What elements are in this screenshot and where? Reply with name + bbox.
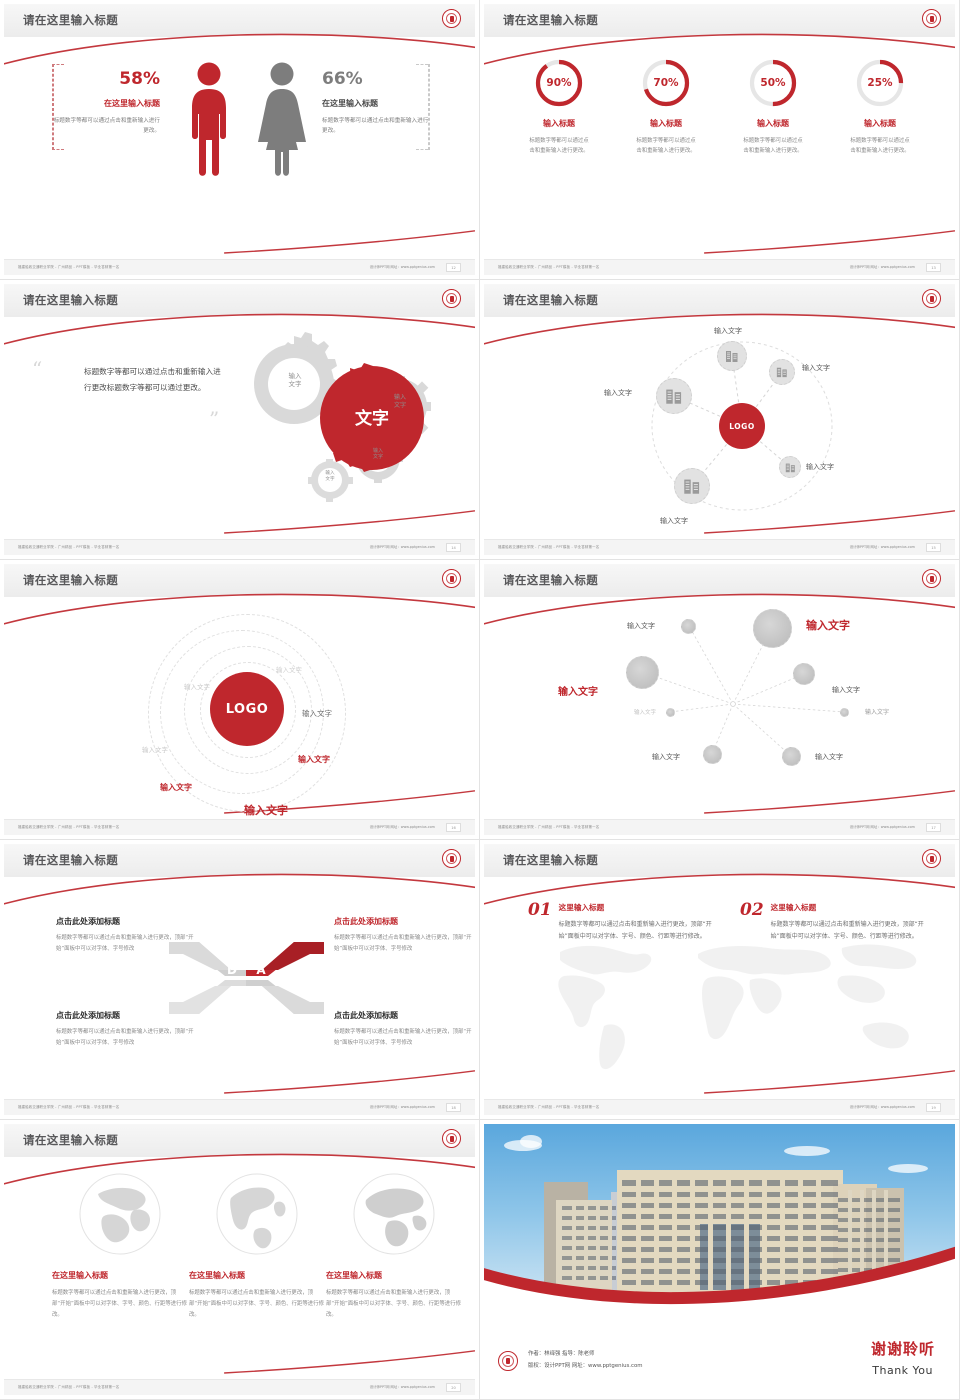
hub-label-1: 输入文字 — [714, 326, 742, 336]
thanks-english: Thank You — [872, 1364, 933, 1377]
page-number: 18 — [446, 1103, 461, 1112]
block-heading: 这里输入标题 — [771, 902, 930, 913]
network-node-1[interactable] — [681, 619, 696, 634]
slide-6[interactable]: 请在这里输入标题 输入文字 — [480, 560, 960, 840]
svg-text:B: B — [256, 987, 265, 1001]
page-title: 请在这里输入标题 — [23, 12, 118, 28]
footer-left-text: 福建船政交通职业学院 - 广州精品 - PPT模板 - 毕业答辩第一名 — [498, 264, 599, 269]
ring-center-logo: LOGO — [210, 672, 284, 746]
red-wave-decoration — [484, 1242, 955, 1312]
hub-center-logo: LOGO — [719, 403, 765, 449]
hub-label-5: 输入文字 — [604, 388, 632, 398]
slide-10-thank-you[interactable]: 作者：林绎强 指导：陈老师 版权：设计PPT网 网址：www.pptgenius… — [480, 1120, 960, 1400]
slide-1[interactable]: 请在这里输入标题 58% 在这里输入标题 标题数字等都可以通过点击和重新输入进行… — [0, 0, 480, 280]
donut-chart: 25% — [854, 57, 906, 109]
university-seal-icon — [922, 9, 941, 28]
network-label-6: 输入文字 — [815, 752, 843, 762]
block-number: 02 — [740, 902, 764, 943]
donut-value: 70% — [640, 57, 692, 109]
donut-stat-4[interactable]: 25% 输入标题 标题数字等都可以通过点击和重新输入进行更改。 — [838, 57, 922, 157]
footer-right-text: 设计师PPT网 网址：www.pptgenius.com — [370, 1384, 435, 1389]
globe-body: 标题数字等都可以通过点击和重新输入进行更改，顶部“开始”面板中可以对字体、字号、… — [52, 1288, 187, 1320]
page-title: 请在这里输入标题 — [23, 1132, 118, 1148]
footer-right-text: 设计师PPT网 网址：www.pptgenius.com — [370, 264, 435, 269]
hub-spoke-diagram: LOGO 输入文字 输入文字 输入文字 输入文字 输入文字 — [484, 324, 955, 537]
donut-stats-row: 90% 输入标题 标题数字等都可以通过点击和重新输入进行更改。 70% 输入标题… — [484, 44, 955, 157]
building-icon — [785, 462, 796, 473]
page-number: 14 — [446, 543, 461, 552]
network-node-3[interactable] — [626, 656, 659, 689]
stat-block-female: 66% 在这里输入标题 标题数字等都可以通过点击和重新输入进行更改。 — [322, 70, 432, 136]
footer-right-text: 设计师PPT网 网址：www.pptgenius.com — [850, 1104, 915, 1109]
donut-stat-1[interactable]: 90% 输入标题 标题数字等都可以通过点击和重新输入进行更改。 — [517, 57, 601, 157]
globe-block-2: 在这里输入标题 标题数字等都可以通过点击和重新输入进行更改，顶部“开始”面板中可… — [189, 1172, 324, 1320]
donut-chart: 70% — [640, 57, 692, 109]
numbered-block-01: 01 这里输入标题 标题数字等都可以通过点击和重新输入进行更改，顶部“开始”面板… — [528, 902, 718, 943]
male-figure-icon — [186, 60, 232, 178]
network-label-7: 输入文字 — [634, 708, 656, 716]
page-title: 请在这里输入标题 — [23, 852, 118, 868]
quote-open-icon: “ — [32, 362, 72, 376]
university-seal-icon — [922, 289, 941, 308]
donut-body: 标题数字等都可以通过点击和重新输入进行更改。 — [517, 136, 601, 157]
network-node-2[interactable] — [753, 609, 792, 648]
globe-block-3: 在这里输入标题 标题数字等都可以通过点击和重新输入进行更改，顶部“开始”面板中可… — [326, 1172, 461, 1320]
hub-label-3: 输入文字 — [806, 462, 834, 472]
block-number: 01 — [528, 902, 552, 943]
university-seal-icon — [498, 1351, 518, 1371]
quadrant-body: 标题数字等都可以通过点击和重新输入进行更改，顶部“开始”面板中可以对字体、字号修… — [56, 1027, 198, 1049]
slide-7[interactable]: 请在这里输入标题 点击此处添加标题 标题数字等都可以通过点击和重新输入进行更改，… — [0, 840, 480, 1120]
block-heading: 这里输入标题 — [559, 902, 718, 913]
page-title: 请在这里输入标题 — [503, 12, 598, 28]
donut-stat-2[interactable]: 70% 输入标题 标题数字等都可以通过点击和重新输入进行更改。 — [624, 57, 708, 157]
hub-label-2: 输入文字 — [802, 363, 830, 373]
female-figure-icon — [256, 60, 308, 178]
footer-right-text: 设计师PPT网 网址：www.pptgenius.com — [370, 544, 435, 549]
slide-deck: 请在这里输入标题 58% 在这里输入标题 标题数字等都可以通过点击和重新输入进行… — [0, 0, 960, 1400]
ring-label-7: 输入文字 — [244, 802, 288, 818]
university-seal-icon — [442, 849, 461, 868]
credit-line-2: 版权：设计PPT网 网址：www.pptgenius.com — [528, 1361, 643, 1372]
quadrant-heading: 点击此处添加标题 — [334, 1010, 475, 1021]
svg-text:D: D — [227, 963, 237, 977]
slide-footer: 福建船政交通职业学院 - 广州精品 - PPT模板 - 毕业答辩第一名 设计师P… — [484, 539, 955, 555]
page-title: 请在这里输入标题 — [503, 292, 598, 308]
ring-label-2: 输入文字 — [184, 681, 210, 691]
globe-heading: 在这里输入标题 — [326, 1270, 461, 1281]
world-map-background — [512, 930, 937, 1080]
donut-chart: 50% — [747, 57, 799, 109]
quote-close-icon: ” — [209, 412, 219, 426]
donut-body: 标题数字等都可以通过点击和重新输入进行更改。 — [838, 136, 922, 157]
slide-footer: 福建船政交通职业学院 - 广州精品 - PPT模板 - 毕业答辩第一名 设计师P… — [4, 259, 475, 275]
slide-footer: 福建船政交通职业学院 - 广州精品 - PPT模板 - 毕业答辩第一名 设计师P… — [4, 819, 475, 835]
network-diagram: 输入文字 输入文字 输入文字 输入文字 输入文字 输入文字 输入文字 输入文字 — [484, 604, 955, 817]
slide-2[interactable]: 请在这里输入标题 90% 输入标题 标题数字等都可以通过点击和重新输入进行更改。 — [480, 0, 960, 280]
network-label-5: 输入文字 — [652, 752, 680, 762]
x-quadrant-graphic: D A C B — [169, 924, 324, 1029]
network-node-5[interactable] — [666, 708, 675, 717]
globe-heading: 在这里输入标题 — [52, 1270, 187, 1281]
network-label-1: 输入文字 — [806, 617, 850, 633]
hub-label-4: 输入文字 — [660, 516, 688, 526]
quadrant-text-a: 点击此处添加标题 标题数字等都可以通过点击和重新输入进行更改，顶部“开始”面板中… — [334, 916, 475, 955]
donut-heading: 输入标题 — [517, 118, 601, 129]
hub-node-1[interactable] — [717, 341, 747, 371]
donut-body: 标题数字等都可以通过点击和重新输入进行更改。 — [624, 136, 708, 157]
stat-body: 标题数字等都可以通过点击和重新输入进行更改。 — [322, 116, 432, 137]
globe-block-1: 在这里输入标题 标题数字等都可以通过点击和重新输入进行更改，顶部“开始”面板中可… — [52, 1172, 187, 1320]
numbered-block-02: 02 这里输入标题 标题数字等都可以通过点击和重新输入进行更改，顶部“开始”面板… — [740, 902, 930, 943]
slide-3[interactable]: 请在这里输入标题 “ 标题数字等都可以通过点击和重新输入进行更改标题数字等都可以… — [0, 280, 480, 560]
page-title: 请在这里输入标题 — [23, 292, 118, 308]
stat-heading: 在这里输入标题 — [50, 98, 160, 109]
slide-footer: 福建船政交通职业学院 - 广州精品 - PPT模板 - 毕业答辩第一名 设计师P… — [4, 1379, 475, 1395]
network-label-4: 输入文字 — [832, 685, 860, 695]
globe-body: 标题数字等都可以通过点击和重新输入进行更改，顶部“开始”面板中可以对字体、字号、… — [326, 1288, 461, 1320]
quadrant-body: 标题数字等都可以通过点击和重新输入进行更改，顶部“开始”面板中可以对字体、字号修… — [334, 1027, 475, 1049]
footer-left-text: 福建船政交通职业学院 - 广州精品 - PPT模板 - 毕业答辩第一名 — [18, 544, 119, 549]
network-label-2: 输入文字 — [558, 683, 598, 698]
network-node-8[interactable] — [782, 747, 801, 766]
donut-value: 50% — [747, 57, 799, 109]
footer-left-text: 福建船政交通职业学院 - 广州精品 - PPT模板 - 毕业答辩第一名 — [498, 824, 599, 829]
ring-label-3: 输入文字 — [142, 744, 168, 754]
page-number: 19 — [926, 1103, 941, 1112]
slide-footer: 福建船政交通职业学院 - 广州精品 - PPT模板 - 毕业答辩第一名 设计师P… — [484, 1099, 955, 1115]
globe-heading: 在这里输入标题 — [189, 1270, 324, 1281]
svg-text:文字: 文字 — [355, 408, 389, 429]
stat-heading: 在这里输入标题 — [322, 98, 432, 109]
gear-description: 标题数字等都可以通过点击和重新输入进行更改标题数字等都可以通过更改。 — [84, 364, 224, 396]
network-node-7[interactable] — [703, 745, 722, 764]
globe-body: 标题数字等都可以通过点击和重新输入进行更改，顶部“开始”面板中可以对字体、字号、… — [189, 1288, 324, 1320]
page-number: 20 — [446, 1383, 461, 1392]
donut-heading: 输入标题 — [731, 118, 815, 129]
stat-percent: 66% — [322, 70, 432, 89]
page-number: 13 — [926, 263, 941, 272]
building-icon — [665, 387, 683, 405]
page-number: 16 — [446, 823, 461, 832]
page-title: 请在这里输入标题 — [503, 572, 598, 588]
page-number: 17 — [926, 823, 941, 832]
stat-block-male: 58% 在这里输入标题 标题数字等都可以通过点击和重新输入进行更改。 — [50, 70, 160, 136]
svg-text:C: C — [228, 987, 237, 1001]
block-body: 标题数字等都可以通过点击和重新输入进行更改，顶部“开始”面板中可以对字体、字号、… — [771, 919, 930, 943]
university-seal-icon — [442, 569, 461, 588]
quadrant-text-b: 点击此处添加标题 标题数字等都可以通过点击和重新输入进行更改，顶部“开始”面板中… — [334, 1010, 475, 1049]
hub-node-2[interactable] — [769, 359, 795, 385]
university-seal-icon — [922, 849, 941, 868]
page-number: 15 — [926, 543, 941, 552]
footer-left-text: 福建船政交通职业学院 - 广州精品 - PPT模板 - 毕业答辩第一名 — [18, 1384, 119, 1389]
slide-footer: 福建船政交通职业学院 - 广州精品 - PPT模板 - 毕业答辩第一名 设计师P… — [484, 819, 955, 835]
network-label-8: 输入文字 — [865, 707, 889, 716]
gear-cluster: 文字 输入文字 输入文字 输入文字 输入文字 — [222, 328, 452, 508]
concentric-ring-diagram: LOGO 输入文字 输入文字 输入文字 输入文字 输入文字 输入文字 输入文字 — [4, 604, 475, 817]
slide-8[interactable]: 请在这里输入标题 01 这里输入标题 标题数字等都可以通过点击和重 — [480, 840, 960, 1120]
hub-node-5[interactable] — [656, 378, 692, 414]
slide-4[interactable]: 请在这里输入标题 — [480, 280, 960, 560]
quadrant-body: 标题数字等都可以通过点击和重新输入进行更改，顶部“开始”面板中可以对字体、字号修… — [334, 933, 475, 955]
hub-node-4[interactable] — [674, 468, 710, 504]
footer-right-text: 设计师PPT网 网址：www.pptgenius.com — [850, 824, 915, 829]
footer-right-text: 设计师PPT网 网址：www.pptgenius.com — [850, 544, 915, 549]
page-title: 请在这里输入标题 — [503, 852, 598, 868]
donut-body: 标题数字等都可以通过点击和重新输入进行更改。 — [731, 136, 815, 157]
globe-icon — [215, 1172, 299, 1256]
footer-left-text: 福建船政交通职业学院 - 广州精品 - PPT模板 - 毕业答辩第一名 — [498, 1104, 599, 1109]
slide-9[interactable]: 请在这里输入标题 在这里输入标题 标题数字等都可以通过点击和重新输入进行更改，顶… — [0, 1120, 480, 1400]
hub-node-3[interactable] — [779, 456, 801, 478]
globe-icon — [78, 1172, 162, 1256]
footer-right-text: 设计师PPT网 网址：www.pptgenius.com — [370, 824, 435, 829]
university-seal-icon — [922, 569, 941, 588]
slide-footer: 福建船政交通职业学院 - 广州精品 - PPT模板 - 毕业答辩第一名 设计师P… — [4, 539, 475, 555]
donut-value: 25% — [854, 57, 906, 109]
block-body: 标题数字等都可以通过点击和重新输入进行更改，顶部“开始”面板中可以对字体、字号、… — [559, 919, 718, 943]
page-title: 请在这里输入标题 — [23, 572, 118, 588]
quadrant-heading: 点击此处添加标题 — [334, 916, 475, 927]
footer-right-text: 设计师PPT网 网址：www.pptgenius.com — [370, 1104, 435, 1109]
footer-left-text: 福建船政交通职业学院 - 广州精品 - PPT模板 - 毕业答辩第一名 — [498, 544, 599, 549]
ring-label-6: 输入文字 — [160, 782, 192, 793]
building-icon — [776, 366, 788, 378]
donut-chart: 90% — [533, 57, 585, 109]
ring-label-5: 输入文字 — [298, 754, 330, 765]
footer-left-text: 福建船政交通职业学院 - 广州精品 - PPT模板 - 毕业答辩第一名 — [18, 824, 119, 829]
building-icon — [683, 477, 701, 495]
donut-value: 90% — [533, 57, 585, 109]
donut-heading: 输入标题 — [624, 118, 708, 129]
globe-icon — [352, 1172, 436, 1256]
donut-stat-3[interactable]: 50% 输入标题 标题数字等都可以通过点击和重新输入进行更改。 — [731, 57, 815, 157]
university-seal-icon — [442, 9, 461, 28]
credit-text: 作者：林绎强 指导：陈老师 版权：设计PPT网 网址：www.pptgenius… — [528, 1349, 643, 1372]
stat-percent: 58% — [50, 70, 160, 89]
stat-body: 标题数字等都可以通过点击和重新输入进行更改。 — [50, 116, 160, 137]
donut-heading: 输入标题 — [838, 118, 922, 129]
building-icon — [725, 349, 739, 363]
university-seal-icon — [442, 1129, 461, 1148]
slide-footer: 福建船政交通职业学院 - 广州精品 - PPT模板 - 毕业答辩第一名 设计师P… — [4, 1099, 475, 1115]
network-label-3: 输入文字 — [627, 621, 655, 631]
footer-left-text: 福建船政交通职业学院 - 广州精品 - PPT模板 - 毕业答辩第一名 — [18, 1104, 119, 1109]
page-number: 12 — [446, 263, 461, 272]
svg-text:A: A — [256, 963, 266, 977]
footer-right-text: 设计师PPT网 网址：www.pptgenius.com — [850, 264, 915, 269]
ring-label-4: 输入文字 — [302, 708, 332, 719]
network-node-6[interactable] — [840, 708, 849, 717]
university-seal-icon — [442, 289, 461, 308]
slide-footer: 福建船政交通职业学院 - 广州精品 - PPT模板 - 毕业答辩第一名 设计师P… — [484, 259, 955, 275]
ring-label-1: 输入文字 — [276, 664, 302, 674]
network-node-4[interactable] — [793, 663, 815, 685]
footer-left-text: 福建船政交通职业学院 - 广州精品 - PPT模板 - 毕业答辩第一名 — [18, 264, 119, 269]
thanks-chinese: 谢谢聆听 — [871, 1338, 935, 1359]
credit-line-1: 作者：林绎强 指导：陈老师 — [528, 1349, 643, 1360]
slide-5[interactable]: 请在这里输入标题 LOGO 输入文字 输入文字 输入文字 输入文字 输入文字 输… — [0, 560, 480, 840]
